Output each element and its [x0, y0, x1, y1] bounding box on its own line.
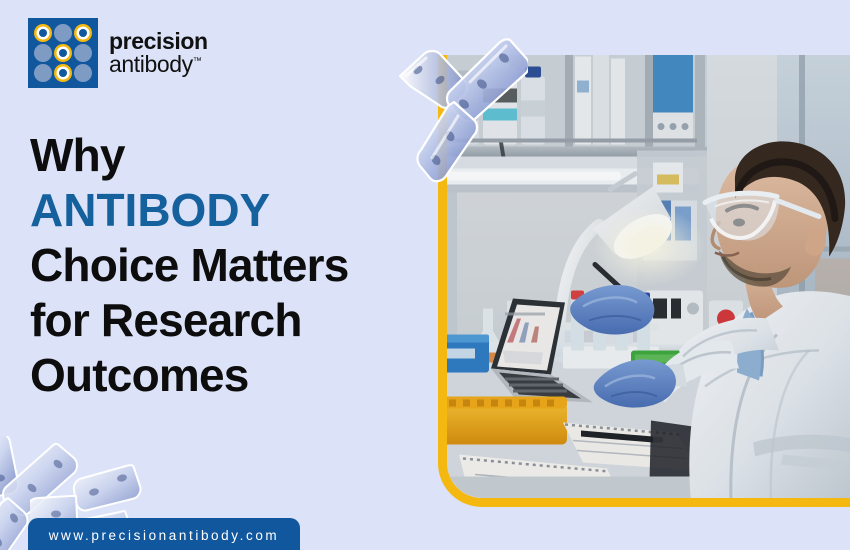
- logo-dot-grid-icon: [28, 18, 98, 88]
- logo-dot-r2c2: [54, 44, 72, 62]
- logo-dot-r3c3: [74, 64, 92, 82]
- website-url-bar[interactable]: www.precisionantibody.com: [28, 518, 300, 550]
- logo-wordmark: precision antibody™: [109, 30, 208, 77]
- website-url-text: www.precisionantibody.com: [49, 528, 280, 543]
- headline-line-2-accent: ANTIBODY: [30, 183, 430, 238]
- logo-word-antibody: antibody: [109, 51, 193, 77]
- photo-frame: [438, 55, 850, 507]
- page-title: Why ANTIBODY Choice Matters for Research…: [30, 128, 430, 403]
- headline-line-5: Outcomes: [30, 348, 430, 403]
- headline-line-3: Choice Matters: [30, 238, 430, 293]
- logo-word-antibody-wrap: antibody™: [109, 53, 208, 76]
- headline-line-1: Why: [30, 128, 430, 183]
- logo-dot-r1c2: [54, 24, 72, 42]
- trademark-symbol: ™: [193, 55, 202, 65]
- brand-logo[interactable]: precision antibody™: [28, 18, 208, 88]
- logo-dot-r2c1: [34, 44, 52, 62]
- logo-dot-r1c1: [34, 24, 52, 42]
- lab-photo: [447, 55, 850, 498]
- poster-canvas: precision antibody™ Why ANTIBODY Choice …: [0, 0, 850, 550]
- logo-dot-r1c3: [74, 24, 92, 42]
- logo-dot-r3c1: [34, 64, 52, 82]
- logo-dot-r2c3: [74, 44, 92, 62]
- logo-word-precision: precision: [109, 30, 208, 53]
- logo-dot-r3c2: [54, 64, 72, 82]
- headline-line-4: for Research: [30, 293, 430, 348]
- lab-photo-illustration: [447, 55, 850, 498]
